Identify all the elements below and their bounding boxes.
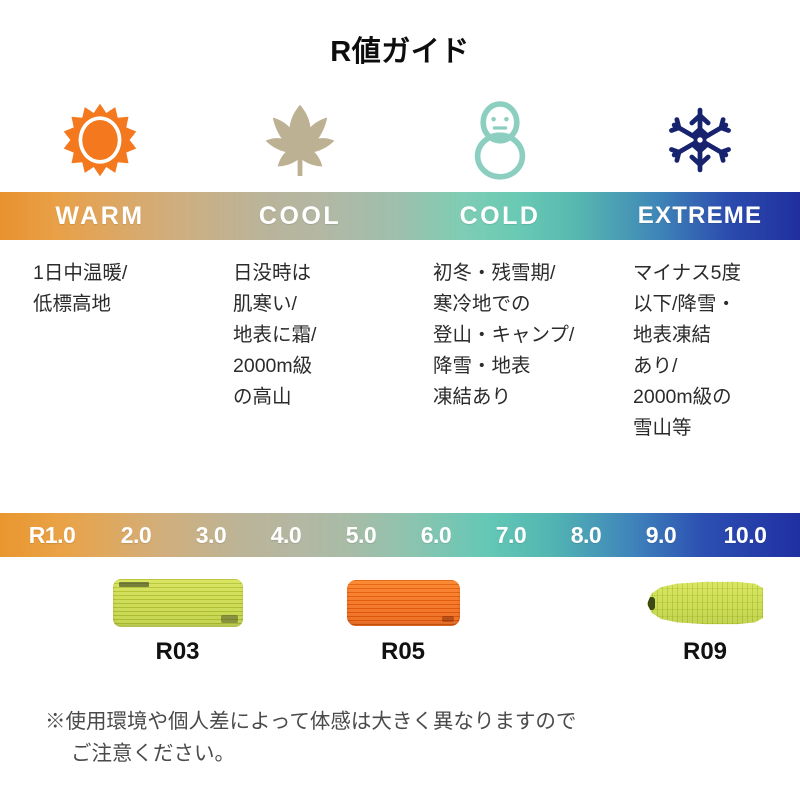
sun-icon — [63, 103, 137, 177]
snowman-icon — [465, 100, 535, 180]
footnote: ※使用環境や個人差によって体感は大きく異なりますので ご注意ください。 — [45, 706, 785, 770]
description-row: 1日中温暖/ 低標高地 日没時は 肌寒い/ 地表に霜/ 2000m級 の高山 初… — [0, 258, 800, 488]
r-value-tick: 9.0 — [625, 513, 697, 557]
product-label: R09 — [640, 638, 770, 666]
product-image-r09 — [640, 572, 770, 634]
r-value-tick: R1.0 — [10, 513, 94, 557]
description-line: 低標高地 — [33, 289, 194, 320]
description-column-cold: 初冬・残雪期/ 寒冷地での 登山・キャンプ/ 降雪・地表 凍結あり — [400, 258, 600, 488]
product-r09[interactable]: R09 — [640, 572, 770, 666]
sleeping-pad-icon — [113, 579, 243, 627]
description-column-cool: 日没時は 肌寒い/ 地表に霜/ 2000m級 の高山 — [200, 258, 400, 488]
sleeping-pad-icon — [347, 580, 460, 626]
page-title: R値ガイド — [0, 28, 800, 70]
description-line: 凍結あり — [433, 382, 594, 413]
description-line: 2000m級の — [633, 382, 794, 413]
r-value-tick: 6.0 — [400, 513, 472, 557]
description-line: 以下/降雪・ — [633, 289, 794, 320]
product-label: R03 — [110, 638, 245, 666]
footnote-line-1: ※使用環境や個人差によって体感は大きく異なりますので — [45, 706, 785, 738]
category-label-cold: COLD — [400, 192, 600, 240]
description-line: あり/ — [633, 351, 794, 382]
r-value-tick-container: R1.0 2.0 3.0 4.0 5.0 6.0 7.0 8.0 9.0 10.… — [0, 513, 800, 557]
description-line: 地表に霜/ — [233, 320, 394, 351]
icon-cell-cool — [200, 92, 400, 187]
icon-row — [0, 92, 800, 187]
category-label-extreme: EXTREME — [600, 192, 800, 240]
description-column-extreme: マイナス5度 以下/降雪・ 地表凍結 あり/ 2000m級の 雪山等 — [600, 258, 800, 488]
description-line: 2000m級 — [233, 351, 394, 382]
footnote-line-2: ご注意ください。 — [45, 738, 785, 770]
product-r03[interactable]: R03 — [110, 572, 245, 666]
product-label: R05 — [338, 638, 468, 666]
category-label-warm: WARM — [0, 192, 200, 240]
product-image-r05 — [338, 572, 468, 634]
product-image-r03 — [110, 572, 245, 634]
description-line: 登山・キャンプ/ — [433, 320, 594, 351]
r-value-tick: 2.0 — [100, 513, 172, 557]
category-label-cool: COOL — [200, 192, 400, 240]
description-line: 降雪・地表 — [433, 351, 594, 382]
r-value-tick: 8.0 — [550, 513, 622, 557]
r-value-tick: 7.0 — [475, 513, 547, 557]
r-value-guide-page: R値ガイド — [0, 0, 800, 800]
r-value-tick: 10.0 — [700, 513, 790, 557]
description-line: 地表凍結 — [633, 320, 794, 351]
valve-icon — [648, 597, 655, 610]
description-line: 1日中温暖/ — [33, 258, 194, 289]
r-value-tick: 5.0 — [325, 513, 397, 557]
icon-cell-extreme — [600, 92, 800, 187]
description-line: の高山 — [233, 382, 394, 413]
category-gradient-band: WARM COOL COLD EXTREME — [0, 192, 800, 240]
snowflake-icon — [666, 104, 734, 176]
description-line: 初冬・残雪期/ — [433, 258, 594, 289]
r-value-tick: 3.0 — [175, 513, 247, 557]
icon-cell-cold — [400, 92, 600, 187]
description-line: 日没時は — [233, 258, 394, 289]
product-r05[interactable]: R05 — [338, 572, 468, 666]
icon-cell-warm — [0, 92, 200, 187]
r-value-tick: 4.0 — [250, 513, 322, 557]
product-row: R03 R05 R09 — [0, 572, 800, 677]
r-value-scale-band: R1.0 2.0 3.0 4.0 5.0 6.0 7.0 8.0 9.0 10.… — [0, 513, 800, 557]
description-line: 寒冷地での — [433, 289, 594, 320]
description-line: 肌寒い/ — [233, 289, 394, 320]
description-column-warm: 1日中温暖/ 低標高地 — [0, 258, 200, 488]
sleeping-pad-icon — [647, 581, 763, 625]
description-line: 雪山等 — [633, 413, 794, 444]
description-line: マイナス5度 — [633, 258, 794, 289]
leaf-icon — [260, 100, 340, 180]
